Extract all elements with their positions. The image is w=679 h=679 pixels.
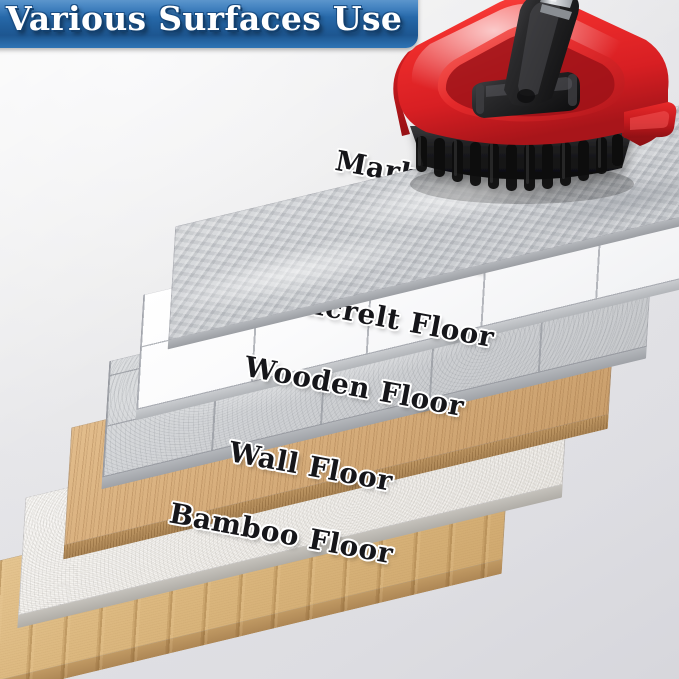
product-infographic: Bamboo Floor Wall Floor Wooden Floor Con… bbox=[0, 0, 679, 679]
scrub-brush-product bbox=[372, 0, 679, 216]
brush-joint-pivot bbox=[517, 89, 535, 103]
headline-text: Various Surfaces Use bbox=[6, 0, 402, 38]
headline-banner: Various Surfaces Use bbox=[0, 0, 418, 48]
